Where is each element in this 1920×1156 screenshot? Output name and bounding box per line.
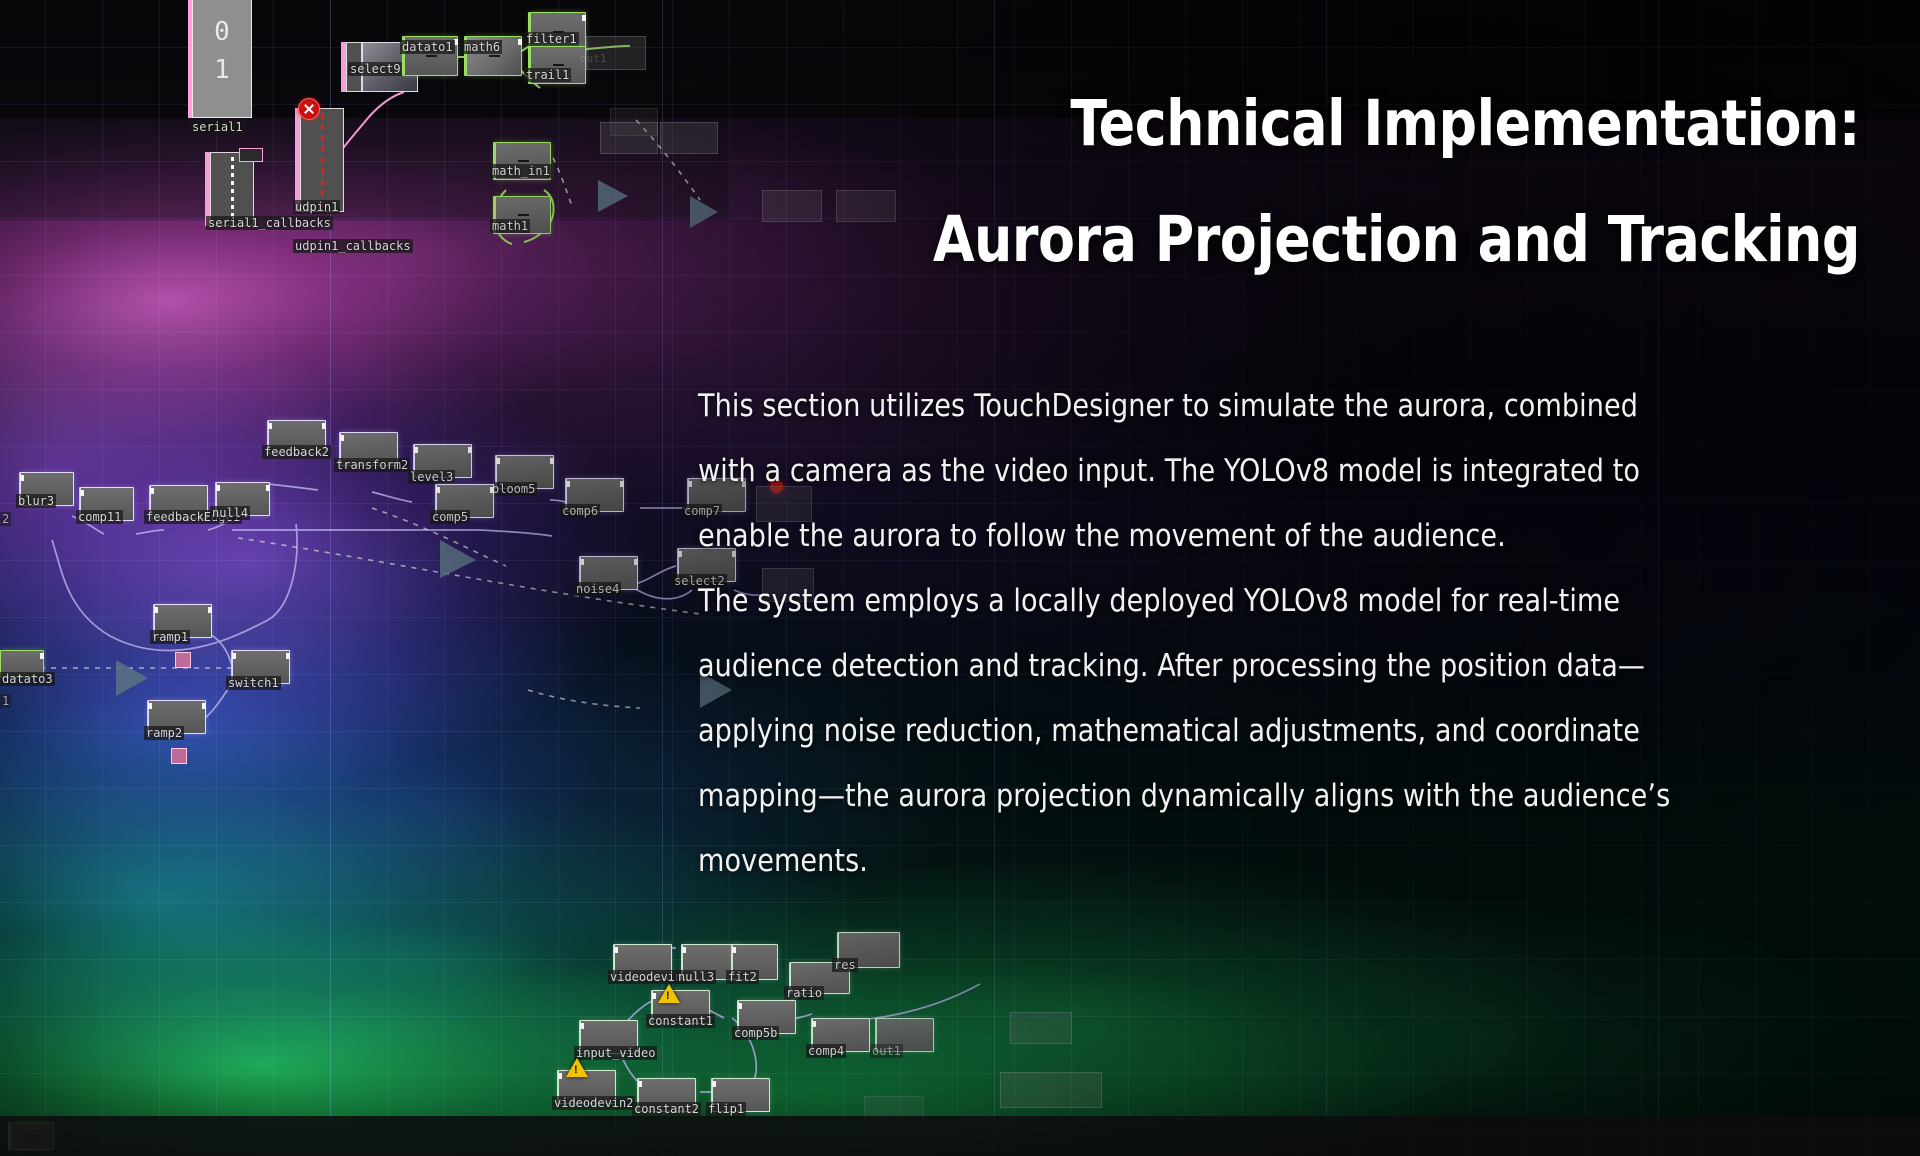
node-feedbackedge1[interactable]	[150, 485, 208, 519]
node-null4[interactable]	[216, 482, 270, 516]
body-paragraph-2: The system employs a locally deployed YO…	[698, 569, 1672, 894]
page-title-line2: Aurora Projection and Tracking	[720, 182, 1860, 298]
node-comp5[interactable]	[436, 484, 494, 518]
network-bottom-band	[0, 1116, 1920, 1156]
body-block: This section utilizes TouchDesigner to s…	[698, 374, 1702, 894]
node-ramp2[interactable]	[148, 700, 206, 734]
pink-chip-ramp2	[171, 748, 187, 764]
dat-strip-serial1-callbacks[interactable]	[210, 152, 254, 226]
node-feedback2[interactable]	[268, 420, 326, 454]
node-comp11[interactable]	[80, 487, 134, 521]
node-math-in1[interactable]	[495, 142, 551, 180]
node-blur3[interactable]	[20, 472, 74, 506]
dat-strip-udpin1[interactable]	[300, 108, 344, 212]
node-label-udpin1-callbacks: udpin1_callbacks	[293, 239, 413, 253]
ghost-node-6	[610, 108, 658, 136]
body-paragraph-1: This section utilizes TouchDesigner to s…	[698, 374, 1672, 569]
node-label-blur2: 2	[0, 512, 11, 526]
node-switch1[interactable]	[232, 650, 290, 684]
node-math1[interactable]	[495, 196, 551, 234]
warning-icon-videodevin2[interactable]	[566, 1058, 588, 1077]
node-label-datato3-sub: 1	[0, 694, 11, 708]
node-datato3[interactable]	[0, 650, 44, 678]
dat-table-serial1[interactable]: 0 1	[192, 0, 252, 118]
slide-canvas: 0 1 serial1 serial1_callbacks udpin1 udp…	[0, 0, 1920, 1156]
pink-chip-ramp1	[175, 652, 191, 668]
page-title-line1: Technical Implementation:	[720, 66, 1860, 182]
node-level3[interactable]	[414, 444, 472, 478]
dat-chip-serial1	[239, 148, 263, 162]
dat-port-select9	[346, 42, 362, 92]
node-comp6[interactable]	[566, 478, 624, 512]
error-icon[interactable]	[298, 98, 320, 120]
node-noise4[interactable]	[580, 556, 638, 590]
node-ramp1[interactable]	[154, 604, 212, 638]
node-trail1[interactable]	[530, 46, 586, 84]
node-math6[interactable]	[466, 36, 522, 76]
node-datato1[interactable]	[404, 36, 458, 76]
ghost-label-1: out1	[580, 52, 607, 65]
node-input-video[interactable]	[580, 1020, 638, 1054]
slide-content: Technical Implementation: Aurora Project…	[660, 58, 1860, 1098]
title-block: Technical Implementation: Aurora Project…	[660, 66, 1860, 298]
node-bloom5[interactable]	[496, 455, 554, 489]
node-transform2[interactable]	[340, 432, 398, 466]
